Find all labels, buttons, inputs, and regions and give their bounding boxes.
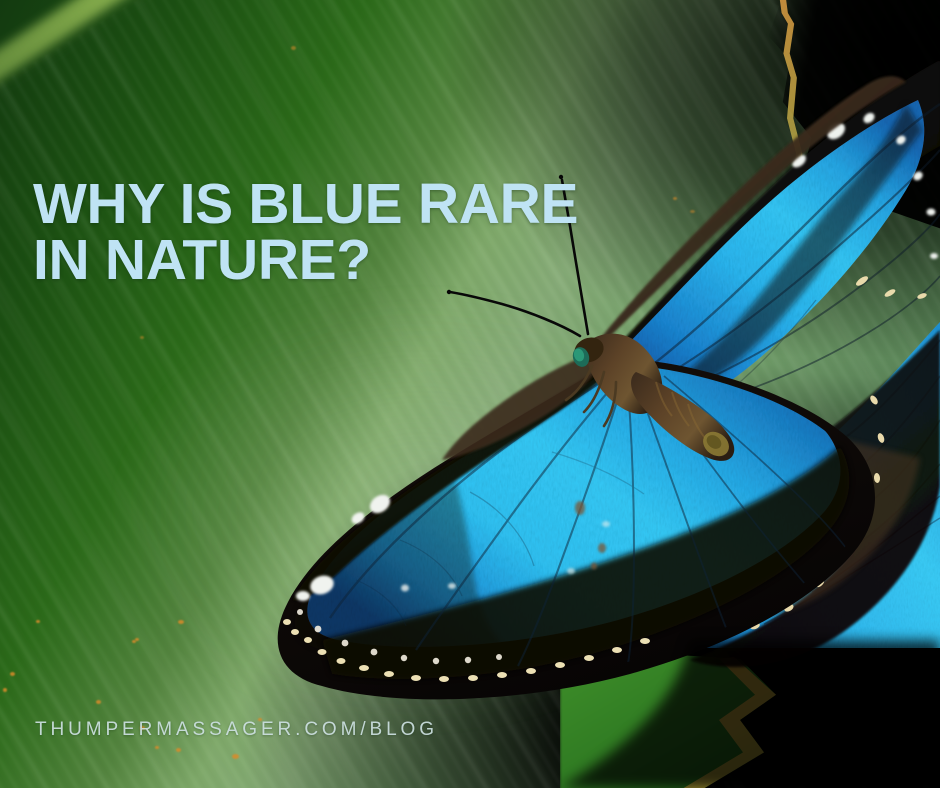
antenna-left-club — [447, 290, 451, 294]
antenna-left — [450, 292, 580, 336]
blue-morpho-butterfly — [0, 0, 940, 788]
social-graphic-canvas: WHY IS BLUE RARE IN NATURE? THUMPERMASSA… — [0, 0, 940, 788]
footer-url: THUMPERMASSAGER.COM/BLOG — [35, 719, 438, 741]
page-title: WHY IS BLUE RARE IN NATURE? — [33, 176, 578, 289]
